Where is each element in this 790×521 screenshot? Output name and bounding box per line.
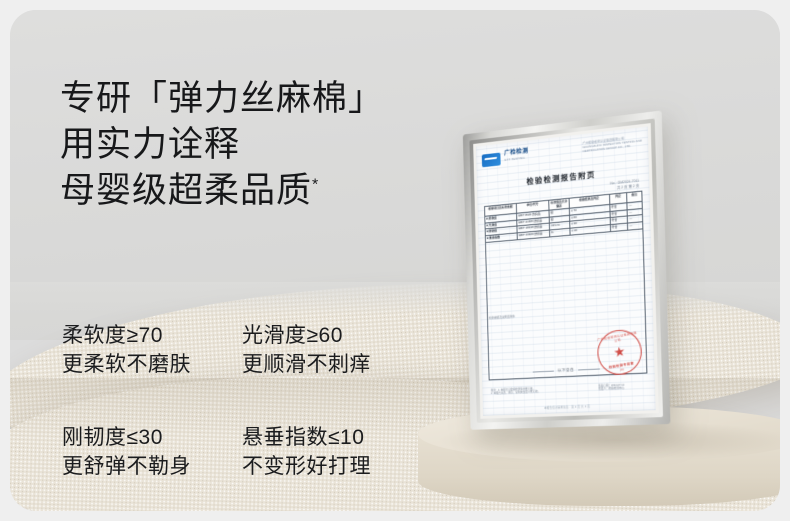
table-cell: — <box>628 222 643 230</box>
rule-left <box>533 371 554 372</box>
stat-subtitle: 更舒弹不勒身 <box>62 452 242 482</box>
table-cell: 符合 <box>610 223 628 231</box>
stat-title: 光滑度≥60 <box>242 322 422 350</box>
headline-asterisk: * <box>312 176 319 193</box>
stat-subtitle: 更柔软不磨肤 <box>62 350 242 380</box>
certificate-sidenote: 检验依据及说明见附件 <box>489 315 515 320</box>
banner-card: 专研「弹力丝麻棉」 用实力诠释 母婴级超柔品质* 柔软度≥70 更柔软不磨肤 光… <box>10 10 780 511</box>
certificate-footer: 本报告仅对来样负责 · 第 2 页 共 2 页 <box>483 402 656 412</box>
headline-line-1: 专研「弹力丝麻棉」 <box>60 76 384 122</box>
headline-line-3: 母婴级超柔品质* <box>60 168 384 214</box>
headline-line-3-text: 母婴级超柔品质 <box>60 171 312 210</box>
stat-row: 柔软度≥70 更柔软不磨肤 光滑度≥60 更顺滑不刺痒 <box>62 322 422 380</box>
official-seal-stamp: 广州检验检测认证集团有限公司 ★ 检验检测专用章 (02) <box>594 326 644 378</box>
certificate-page: 广检检测 GTT TESTING 广州检验检测认证集团有限公司 GUANGZHO… <box>476 126 656 415</box>
seal-star-icon: ★ <box>613 344 627 359</box>
stat-item-smoothness: 光滑度≥60 更顺滑不刺痒 <box>242 322 422 380</box>
table-cell-label: ■ 悬垂指数 <box>485 233 517 242</box>
table-cell: % <box>550 228 571 236</box>
test-results-table: 检验项目及标准依据 单位/代号 标准值及允许偏差 检验结果及判定 判定 备注 ■… <box>484 191 643 243</box>
frame-outer-metal: 广检检测 GTT TESTING 广州检验检测认证集团有限公司 GUANGZHO… <box>463 110 671 429</box>
stat-title: 刚韧度≤30 <box>62 424 242 452</box>
blank-marker-text: 以下空白 <box>558 368 574 374</box>
rule-right <box>578 369 600 370</box>
stat-item-drape: 悬垂指数≤10 不变形好打理 <box>242 424 422 482</box>
feature-stats: 柔软度≥70 更柔软不磨肤 光滑度≥60 更顺滑不刺痒 刚韧度≤30 更舒弹不勒… <box>62 322 422 482</box>
page-title: 专研「弹力丝麻棉」 用实力诠释 母婴级超柔品质* <box>60 76 384 214</box>
lab-logo-icon <box>482 153 501 168</box>
note-line: 签发人：检验检测中心 <box>598 387 624 391</box>
certificate-org: 广检检测 GTT TESTING <box>504 148 528 162</box>
certificate-notes-right: 签发日期：2024-07-11 签发人：检验检测中心 <box>598 384 624 392</box>
headline-line-2: 用实力诠释 <box>60 122 384 168</box>
stat-subtitle: 更顺滑不刺痒 <box>242 350 422 380</box>
table-cell: GB/T 23329 纺织品 <box>517 230 550 239</box>
stat-item-softness: 柔软度≥70 更柔软不磨肤 <box>62 322 242 380</box>
stat-item-stiffness: 刚韧度≤30 更舒弹不勒身 <box>62 424 242 482</box>
stat-subtitle: 不变形好打理 <box>242 452 422 482</box>
stat-title: 悬垂指数≤10 <box>242 424 422 452</box>
note-line: 2. 本报告涂改、换页、复制未加盖公章无效。 <box>491 390 540 395</box>
stat-title: 柔软度≥70 <box>62 322 242 350</box>
certificate-meta: No.: GM2024-7011 共 2 页 第 2 页 <box>610 179 639 192</box>
stat-row: 刚韧度≤30 更舒弹不勒身 悬垂指数≤10 不变形好打理 <box>62 424 422 482</box>
certificate-notes-left: 备注：1. 本报告无检验检测专用章无效。 2. 本报告涂改、换页、复制未加盖公章… <box>491 387 540 396</box>
certificate-frame: 广检检测 GTT TESTING 广州检验检测认证集团有限公司 GUANGZHO… <box>463 110 671 429</box>
seal-arc-text: 广州检验检测认证集团有限公司 <box>596 330 639 345</box>
certificate-address: 广州检验检测认证集团有限公司 GUANGZHOU INSPECTION TEST… <box>582 135 642 153</box>
